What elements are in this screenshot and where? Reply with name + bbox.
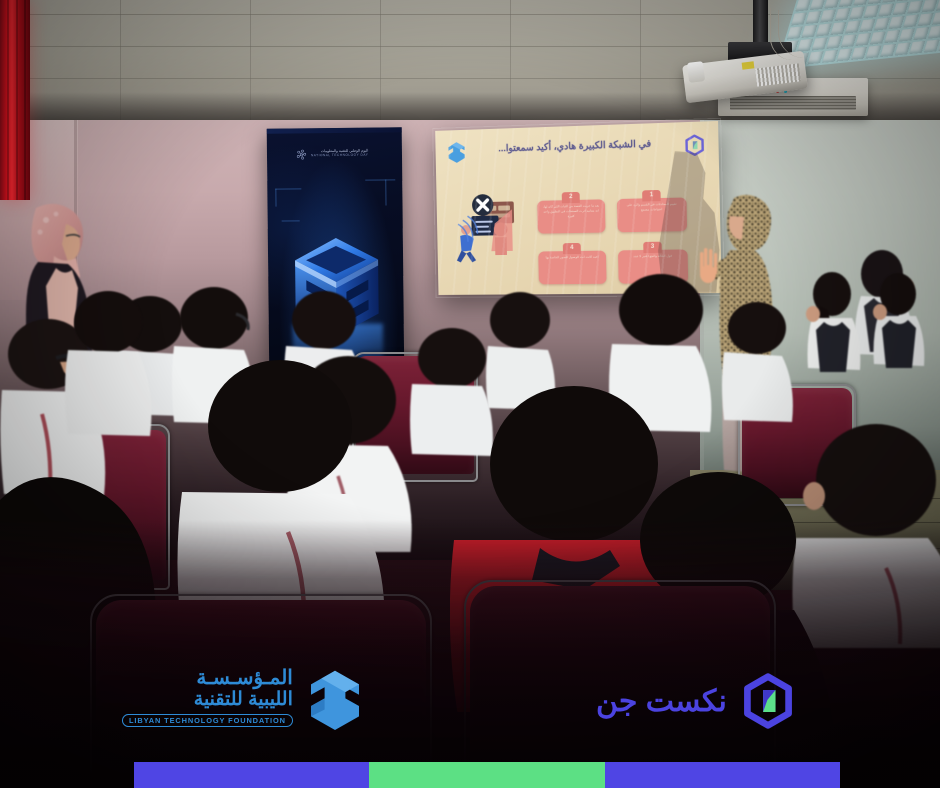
card-number: 1 <box>642 190 661 202</box>
ltf-arabic-line1: المـؤسـسـة <box>122 668 293 690</box>
bar-purple-left <box>134 762 369 788</box>
ltf-cube-icon <box>303 666 367 730</box>
banner-title-en: NATIONAL TECHNOLOGY DAY <box>311 154 368 158</box>
card-number: 2 <box>562 192 580 203</box>
ltf-english-badge: LIBYAN TECHNOLOGY FOUNDATION <box>122 714 293 727</box>
light-cell <box>839 0 855 7</box>
projector-mount-pole <box>753 0 768 44</box>
projector-lens <box>687 61 705 83</box>
light-cell <box>853 0 869 6</box>
audience-student <box>60 288 158 438</box>
projector-label-tag <box>742 61 755 69</box>
light-cell <box>928 26 940 39</box>
slide-card: 4 اعبه كانت انت الوصول للصور الخاصة بها <box>538 251 606 285</box>
presentation-slide: في الشبكة الكبيرة هادي، أكيد سمعتوا... <box>435 121 722 295</box>
ltf-wordmark: المـؤسـسـة الليبية للتقنية LIBYAN TECHNO… <box>122 668 293 728</box>
event-photo-stage: اليوم الوطني للتقنية والمعلومات NATIONAL… <box>0 0 940 788</box>
air-conditioner-grill <box>730 96 856 110</box>
libyan-technology-foundation-logo: المـؤسـسـة الليبية للتقنية LIBYAN TECHNO… <box>122 666 367 730</box>
nextgen-hex-icon <box>739 672 797 730</box>
card-text: اعبه كانت انت الوصول للصور الخاصة بها <box>543 255 601 281</box>
bar-purple-right <box>605 762 840 788</box>
slide-card: 2 بعد ما جربت القصة من الثبات اللي كان ل… <box>537 199 605 233</box>
card-text: بعد ما جربت القصة من الثبات اللي كان لها… <box>542 203 600 229</box>
audience-student <box>716 300 798 430</box>
national-tech-day-icon <box>295 148 308 161</box>
banner-header: اليوم الوطني للتقنية والمعلومات NATIONAL… <box>295 147 379 162</box>
nextgen-logo: نكست جن <box>596 672 797 730</box>
audience-girl-seated <box>866 272 932 422</box>
red-curtain <box>0 0 30 200</box>
light-cell <box>824 0 840 9</box>
projection-screen: في الشبكة الكبيرة هادي، أكيد سمعتوا... <box>435 121 722 295</box>
ltf-arabic-line2: الليبية للتقنية <box>122 690 293 711</box>
nextgen-wordmark: نكست جن <box>596 684 727 719</box>
bar-green-center <box>369 762 605 788</box>
card-number: 4 <box>563 243 581 254</box>
error-x-people-illustration <box>448 189 525 263</box>
